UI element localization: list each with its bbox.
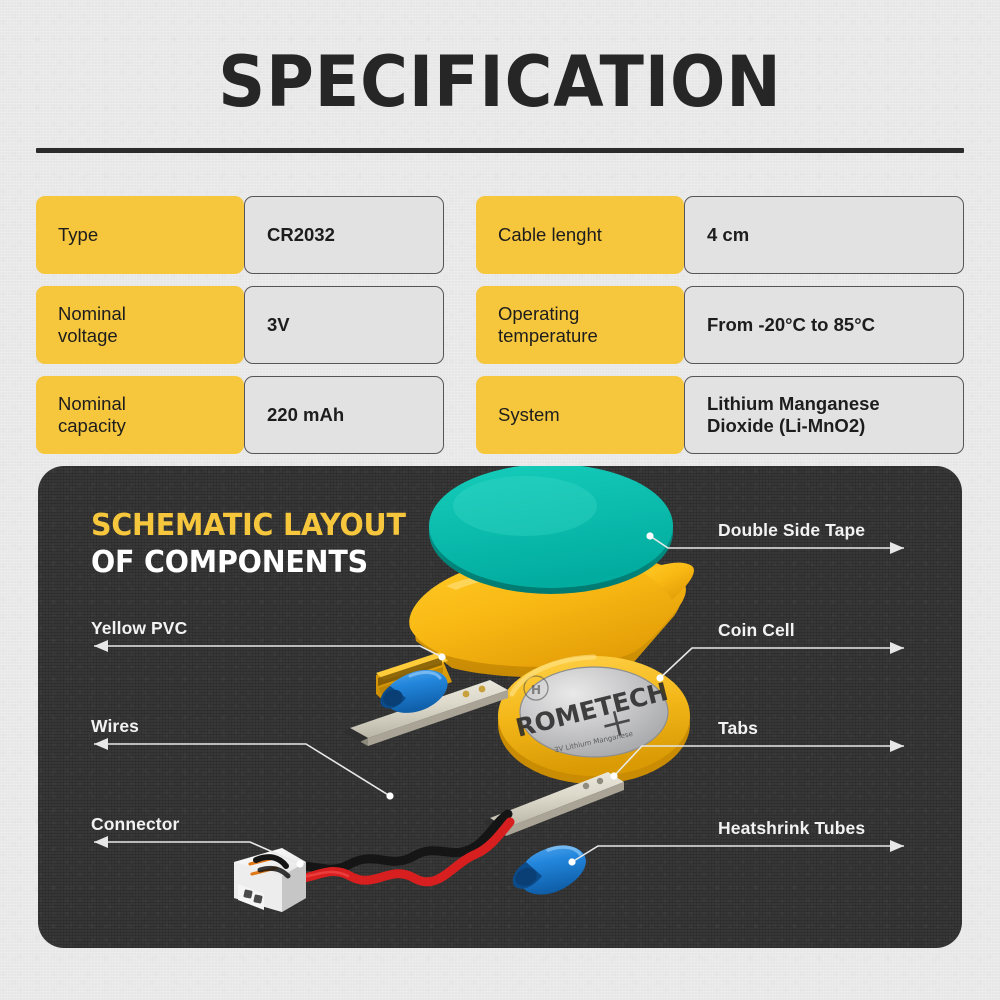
- schematic-heading-line2: OF COMPONENTS: [91, 545, 406, 582]
- spec-label-cable-lenght: Cable lenght: [476, 196, 684, 274]
- spec-table: Type CR2032 Cable lenght 4 cm Nominal vo…: [36, 196, 964, 454]
- spec-label-operating-temperature: Operating temperature: [476, 286, 684, 364]
- spec-label-text: System: [498, 404, 560, 426]
- spec-label-text: Nominal capacity: [58, 393, 126, 437]
- spec-value-text: 3V: [267, 314, 290, 336]
- spec-value-text: CR2032: [267, 224, 335, 246]
- callout-label-tabs: Tabs: [718, 718, 758, 739]
- spec-value-operating-temperature: From -20°C to 85°C: [684, 286, 964, 364]
- callout-label-double-side-tape: Double Side Tape: [718, 520, 865, 541]
- callout-label-connector: Connector: [91, 814, 179, 835]
- spec-value-nominal-capacity: 220 mAh: [244, 376, 444, 454]
- spec-label-text: Type: [58, 224, 98, 246]
- spec-value-cable-lenght: 4 cm: [684, 196, 964, 274]
- spec-value-system: Lithium Manganese Dioxide (Li-MnO2): [684, 376, 964, 454]
- spec-label-system: System: [476, 376, 684, 454]
- spec-label-type: Type: [36, 196, 244, 274]
- spec-value-type: CR2032: [244, 196, 444, 274]
- schematic-panel: ROMETECH H 3V Lithium Manganese: [38, 466, 962, 948]
- callout-label-wires: Wires: [91, 716, 139, 737]
- svg-text:H: H: [531, 683, 541, 697]
- twisted-wires: [286, 814, 510, 882]
- spec-label-nominal-capacity: Nominal capacity: [36, 376, 244, 454]
- spec-label-text: Cable lenght: [498, 224, 602, 246]
- spec-value-text: 4 cm: [707, 224, 749, 246]
- spec-label-text: Nominal voltage: [58, 303, 126, 347]
- column-spacer: [444, 376, 476, 454]
- callout-label-yellow-pvc: Yellow PVC: [91, 618, 187, 639]
- infographic-root: SPECIFICATION Type CR2032 Cable lenght 4…: [0, 0, 1000, 1000]
- spec-value-text: 220 mAh: [267, 404, 344, 426]
- callout-label-coin-cell: Coin Cell: [718, 620, 795, 641]
- schematic-heading-line1: SCHEMATIC LAYOUT: [91, 508, 406, 545]
- spec-label-nominal-voltage: Nominal voltage: [36, 286, 244, 364]
- spec-value-nominal-voltage: 3V: [244, 286, 444, 364]
- jst-connector: [234, 848, 306, 912]
- title-divider: [36, 148, 964, 153]
- callout-label-heatshrink-tubes: Heatshrink Tubes: [718, 818, 865, 839]
- page-title: SPECIFICATION: [35, 47, 965, 117]
- schematic-heading: SCHEMATIC LAYOUT OF COMPONENTS: [91, 508, 406, 582]
- column-spacer: [444, 286, 476, 364]
- spec-label-text: Operating temperature: [498, 303, 598, 347]
- column-spacer: [444, 196, 476, 274]
- heatshrink-tube-lower: [513, 846, 586, 895]
- double-side-tape: [429, 466, 673, 594]
- spec-value-text: From -20°C to 85°C: [707, 314, 875, 336]
- spec-value-text: Lithium Manganese Dioxide (Li-MnO2): [707, 393, 880, 437]
